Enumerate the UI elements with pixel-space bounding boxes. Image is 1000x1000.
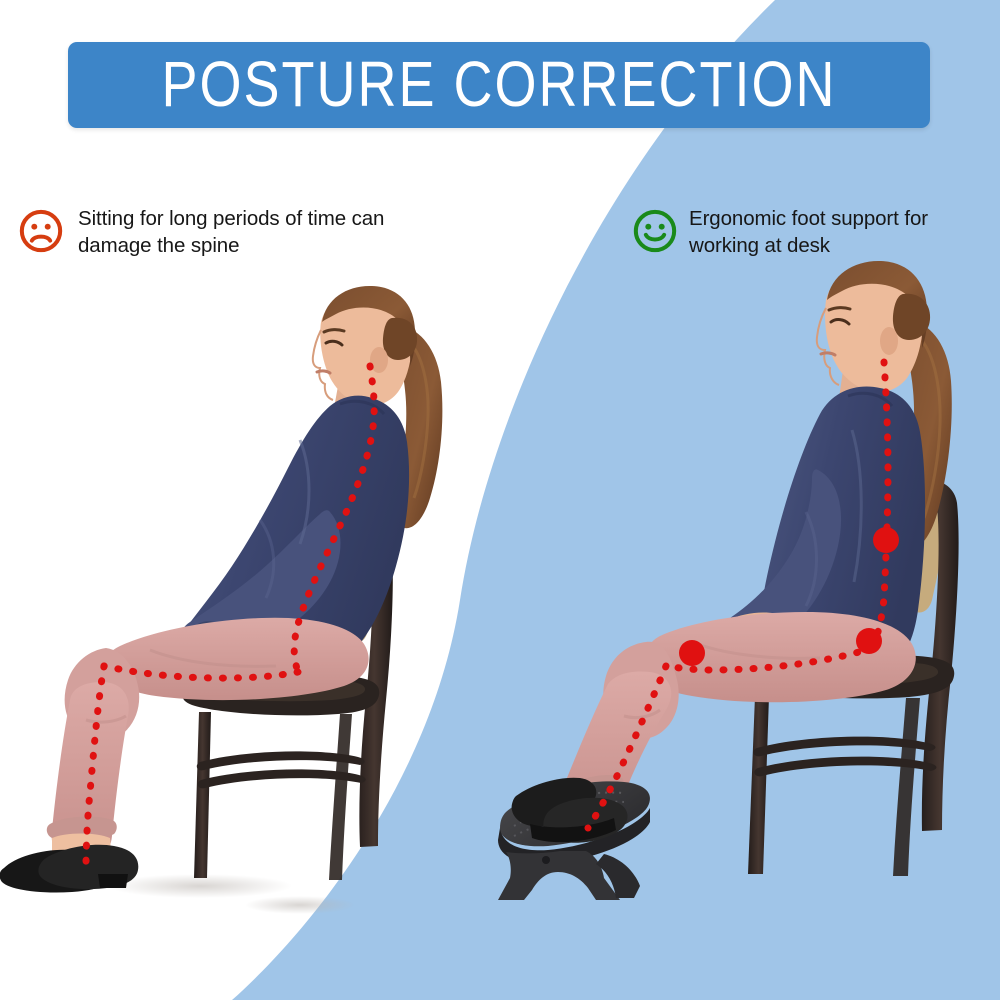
- posture-joint-marker: [856, 628, 882, 654]
- good-posture-illustration: [0, 0, 1000, 1000]
- page-title: POSTURE CORRECTION: [161, 53, 836, 117]
- chair-leg-front: [748, 696, 769, 874]
- smiley-face-icon: [632, 208, 678, 254]
- posture-joint-marker: [873, 527, 899, 553]
- lips: [821, 353, 835, 355]
- posture-joint-marker: [679, 640, 705, 666]
- poster-canvas: POSTURE CORRECTION Sitting for long peri…: [0, 0, 1000, 1000]
- caption-line: damage the spine: [78, 233, 384, 260]
- caption-line: Sitting for long periods of time can: [78, 206, 384, 233]
- bad-posture-caption-text: Sitting for long periods of time can dam…: [78, 206, 384, 259]
- bad-posture-caption: Sitting for long periods of time can dam…: [18, 206, 518, 259]
- sad-face-icon: [18, 208, 64, 254]
- good-posture-caption-text: Ergonomic foot support for working at de…: [689, 206, 928, 259]
- caption-line: working at desk: [689, 233, 928, 260]
- ear: [880, 327, 898, 355]
- footrest-pivot-bolt: [542, 856, 550, 864]
- caption-line: Ergonomic foot support for: [689, 206, 928, 233]
- title-banner: POSTURE CORRECTION: [68, 42, 930, 128]
- chair-leg-rear: [893, 698, 920, 876]
- good-posture-caption: Ergonomic foot support for working at de…: [632, 206, 987, 259]
